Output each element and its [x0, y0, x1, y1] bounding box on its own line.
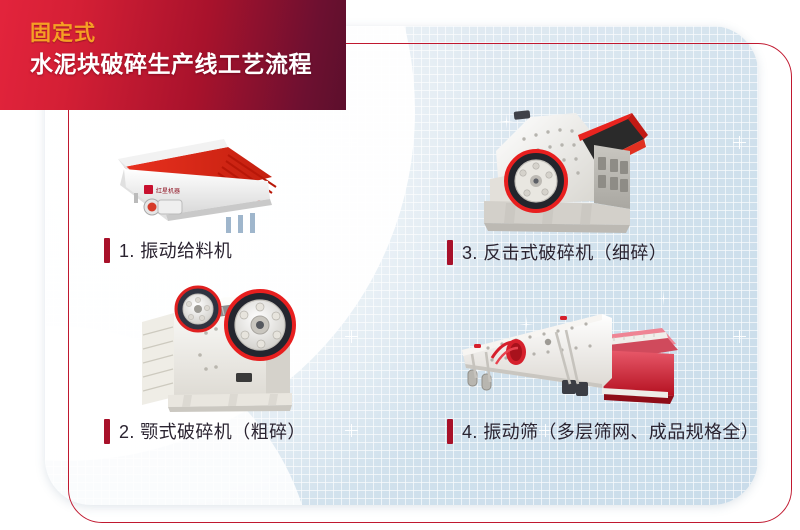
item-label-1: 1. 振动给料机: [104, 237, 232, 263]
banner-title: 水泥块破碎生产线工艺流程: [30, 50, 312, 80]
item-label-4: 4. 振动筛（多层筛网、成品规格全）: [447, 418, 759, 444]
label-marker-bar: [104, 238, 110, 263]
jaw-crusher-image: [140, 277, 330, 412]
item-label-3-text: 3. 反击式破碎机（细碎）: [462, 239, 667, 265]
banner-text-group: 固定式 水泥块破碎生产线工艺流程: [30, 22, 312, 80]
banner-subtitle: 固定式: [30, 22, 312, 46]
item-label-2: 2. 颚式破碎机（粗碎）: [104, 418, 306, 444]
label-marker-bar: [104, 419, 110, 444]
label-marker-bar: [447, 240, 453, 265]
vibrating-feeder-image: 红星机器: [100, 125, 300, 235]
label-marker-bar: [447, 419, 453, 444]
item-label-1-text: 1. 振动给料机: [119, 237, 232, 263]
item-label-4-text: 4. 振动筛（多层筛网、成品规格全）: [462, 418, 759, 444]
svg-text:红星机器: 红星机器: [156, 187, 180, 195]
item-label-3: 3. 反击式破碎机（细碎）: [447, 239, 667, 265]
impact-crusher-image: [470, 105, 655, 237]
vibrating-screen-image: [452, 292, 682, 412]
infographic-canvas: 红星机器: [0, 0, 800, 530]
header-banner: 固定式 水泥块破碎生产线工艺流程: [0, 0, 346, 110]
item-label-2-text: 2. 颚式破碎机（粗碎）: [119, 418, 306, 444]
